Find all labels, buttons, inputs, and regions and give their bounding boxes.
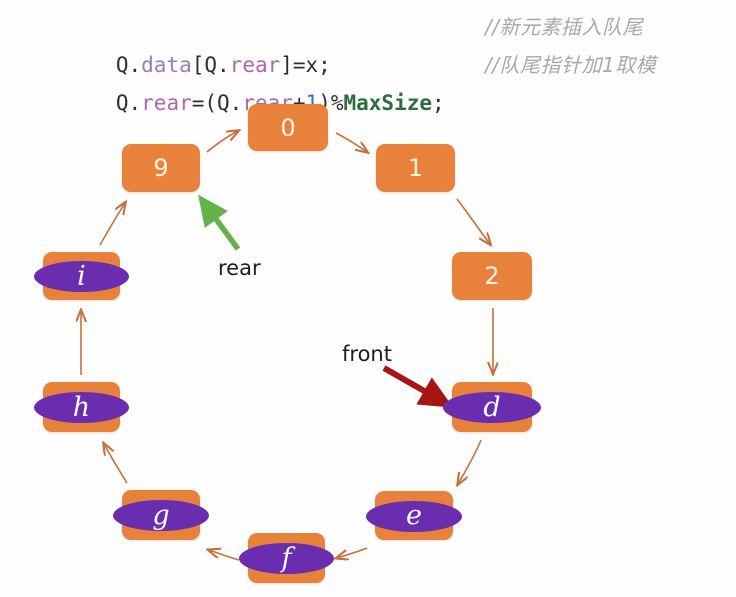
arrow-i-to-9 [100, 203, 125, 245]
rear-pointer-arrow [202, 200, 238, 249]
queue-slot-label: 9 [153, 154, 168, 182]
queue-slot-label: 1 [408, 154, 423, 182]
code-token: Q. [116, 91, 141, 115]
queue-slot-label: e [406, 500, 422, 531]
queue-slot-1[interactable]: 1 [376, 144, 455, 192]
diagram-canvas: Q.data[Q.rear]=x; //新元素插入队尾 Q.rear=(Q.re… [0, 0, 736, 597]
queue-slot-label: g [152, 500, 169, 531]
arrow-e-to-f [337, 548, 367, 558]
queue-slot-9[interactable]: 9 [122, 144, 200, 192]
queue-slot-label: 0 [280, 114, 295, 142]
code-comment: //新元素插入队尾 [485, 8, 643, 46]
code-token: rear [141, 91, 192, 115]
arrow-g-to-h [104, 444, 127, 483]
code-comment: //队尾指针加1取模 [485, 46, 656, 84]
queue-slot-label: d [483, 392, 500, 423]
queue-slot-h[interactable]: h [43, 382, 120, 432]
arrow-0-to-1 [336, 133, 367, 152]
queue-slot-i[interactable]: i [43, 252, 120, 300]
queue-slot-e[interactable]: e [375, 491, 453, 540]
queue-slot-0[interactable]: 0 [248, 104, 328, 151]
code-line-2: Q.rear=(Q.rear+1)%MaxSize; //队尾指针加1取模 [40, 46, 730, 84]
arrow-f-to-g [209, 550, 239, 560]
queue-slot-label: f [282, 543, 292, 574]
code-token: ; [432, 91, 445, 115]
queue-slot-label: i [77, 261, 86, 292]
queue-slot-label: 2 [484, 262, 499, 290]
arrow-d-to-e [458, 440, 481, 484]
rear-pointer-label: rear [218, 256, 261, 280]
arrow-1-to-2 [457, 199, 490, 244]
code-token: =(Q. [192, 91, 243, 115]
queue-slot-2[interactable]: 2 [452, 252, 532, 300]
front-pointer-label: front [342, 342, 392, 366]
code-line-1: Q.data[Q.rear]=x; //新元素插入队尾 [40, 8, 730, 46]
queue-slot-f[interactable]: f [248, 533, 325, 583]
queue-slot-g[interactable]: g [122, 490, 200, 540]
arrow-9-to-0 [207, 131, 238, 152]
queue-slot-d[interactable]: d [452, 382, 532, 432]
queue-slot-label: h [73, 392, 90, 423]
code-block: Q.data[Q.rear]=x; //新元素插入队尾 Q.rear=(Q.re… [40, 8, 730, 84]
code-token: MaxSize [344, 91, 433, 115]
front-pointer-arrow [384, 368, 447, 404]
